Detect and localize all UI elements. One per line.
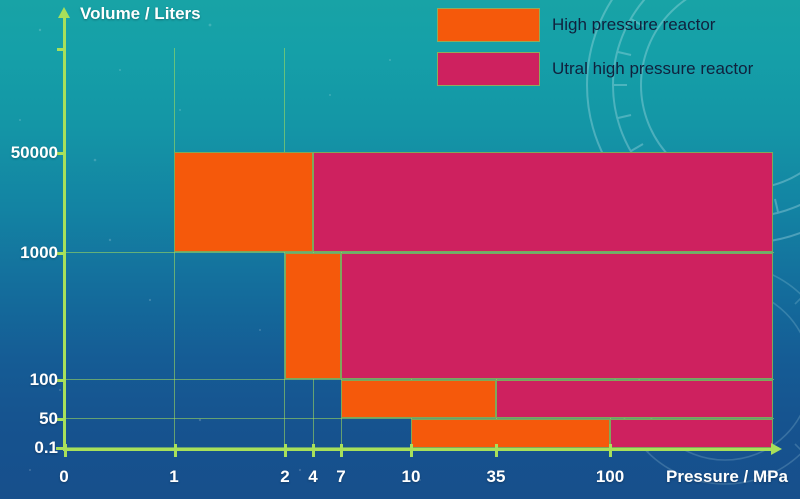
x-axis-line <box>63 448 775 451</box>
x-tick-label-4: 7 <box>336 467 345 487</box>
y-tick-label-4: 0.1 <box>34 438 58 458</box>
x-tick-label-1: 1 <box>169 467 178 487</box>
x-tick-2 <box>284 444 287 457</box>
legend-label-0: High pressure reactor <box>552 15 715 35</box>
x-tick-label-6: 35 <box>487 467 506 487</box>
y-tick-minor-0 <box>57 48 65 51</box>
bar-ultra-50[interactable] <box>610 419 773 448</box>
y-tick-label-0: 50000 <box>11 143 58 163</box>
bar-high-1000[interactable] <box>285 253 341 379</box>
x-tick-1 <box>174 444 177 457</box>
bar-high-50[interactable] <box>411 419 610 448</box>
x-tick-label-3: 4 <box>308 467 317 487</box>
y-axis-line <box>63 16 66 450</box>
bar-ultra-100[interactable] <box>496 380 773 418</box>
y-tick-label-3: 50 <box>39 409 58 429</box>
legend: High pressure reactorUtral high pressure… <box>437 6 753 94</box>
bar-high-50000[interactable] <box>174 152 313 252</box>
x-axis-arrow-icon <box>771 443 782 455</box>
x-tick-3 <box>312 444 315 457</box>
bar-ultra-1000[interactable] <box>341 253 773 379</box>
x-tick-label-0: 0 <box>59 467 68 487</box>
x-tick-label-2: 2 <box>280 467 289 487</box>
y-tick-label-2: 100 <box>30 370 58 390</box>
y-axis-arrow-icon <box>58 7 70 18</box>
legend-item-1[interactable]: Utral high pressure reactor <box>437 50 753 88</box>
legend-swatch-0 <box>437 8 540 42</box>
x-tick-label-7: 100 <box>596 467 624 487</box>
x-tick-4 <box>340 444 343 457</box>
x-tick-0 <box>64 444 67 457</box>
bar-high-100[interactable] <box>341 380 496 418</box>
legend-label-1: Utral high pressure reactor <box>552 59 753 79</box>
y-tick-label-1: 1000 <box>20 243 58 263</box>
x-tick-6 <box>495 444 498 457</box>
bar-ultra-50000[interactable] <box>313 152 773 252</box>
x-tick-7 <box>609 444 612 457</box>
legend-item-0[interactable]: High pressure reactor <box>437 6 753 44</box>
x-tick-5 <box>410 444 413 457</box>
y-axis-title: Volume / Liters <box>80 4 201 24</box>
x-tick-label-5: 10 <box>402 467 421 487</box>
legend-swatch-1 <box>437 52 540 86</box>
x-axis-title: Pressure / MPa <box>666 467 788 487</box>
chart-canvas: 500001000100500.1 012471035100 Volume / … <box>0 0 800 499</box>
